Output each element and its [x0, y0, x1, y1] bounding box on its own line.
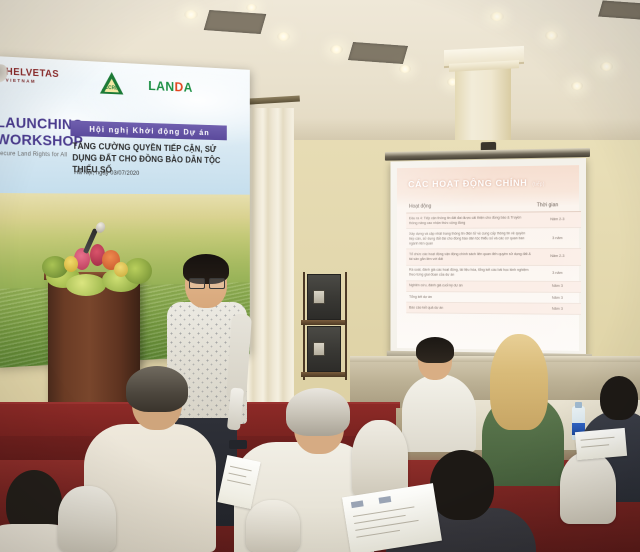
handout-line [581, 437, 615, 441]
conference-chair [352, 420, 408, 498]
projection-screen: CÁC HOẠT ĐỘNG CHÍNH(tiếp) Hoạt động Thời… [390, 158, 586, 358]
ceiling-downlight [246, 4, 257, 11]
banner-title-line2: WORKSHOP [0, 131, 78, 150]
slide-cell-activity: Đầu ra 4: Tiếp cận thông tin đất đai đượ… [406, 212, 534, 229]
slide-title-suffix: (tiếp) [532, 182, 544, 188]
slide-cell-activity: Báo cáo kết quả dự án [406, 302, 534, 314]
handout-line [230, 466, 252, 472]
slide-table-row: Đầu ra 4: Tiếp cận thông tin đất đai đượ… [406, 212, 581, 229]
audience-hair-grey [126, 366, 188, 412]
audience-hair-white [286, 388, 350, 436]
projector-screen-assembly: CÁC HOẠT ĐỘNG CHÍNH(tiếp) Hoạt động Thời… [390, 158, 586, 363]
conference-photo-scene: HELVETAS VIETNAM CCRD LANDA LAUNCHING WO… [0, 0, 640, 552]
landa-text-c: A [184, 79, 193, 94]
ccrd-logo: CCRD [100, 71, 123, 95]
slide-table-row: Xây dựng và cập nhật trang thông tin điệ… [406, 228, 581, 250]
presentation-slide: CÁC HOẠT ĐỘNG CHÍNH(tiếp) Hoạt động Thời… [397, 165, 579, 351]
audience-head [430, 450, 494, 520]
slide-cell-activity: Xây dựng và cập nhật trang thông tin điệ… [406, 228, 534, 249]
slide-title-text: CÁC HOẠT ĐỘNG CHÍNH [408, 178, 527, 190]
slide-activity-table: Hoạt động Thời gian Đầu ra 4: Tiếp cận t… [406, 199, 581, 315]
water-bottle-cap [575, 402, 582, 408]
handout-logo-block [351, 500, 364, 508]
slide-cell-time: Năm 2-3 [534, 249, 581, 265]
ceiling-downlight [600, 62, 613, 71]
presentation-clicker [229, 440, 247, 449]
flower-yellow [64, 256, 78, 272]
handout-line [356, 530, 400, 538]
ac-vent [204, 10, 267, 34]
slide-cell-activity: Rà soát, đánh giá các hoạt động, tài liệ… [406, 265, 534, 281]
audience-hair-blonde [490, 334, 548, 430]
slide-table-row: Rà soát, đánh giá các hoạt động, tài liệ… [406, 265, 581, 281]
slide-cell-activity: Nghiên cứu, đánh giá cuối kỳ dự án [406, 281, 534, 293]
slide-table-row: Báo cáo kết quả dự án Năm 3 [406, 302, 581, 315]
slide-table-row: Tổ chức các hoạt động vận động chính sác… [406, 249, 581, 265]
speaker-driver-icon [313, 342, 325, 356]
speaker-shelf [301, 372, 345, 377]
ceiling-downlight [330, 45, 343, 54]
conference-chair [560, 452, 616, 524]
slide-col-time: Thời gian [534, 199, 581, 212]
handout-line [229, 473, 247, 478]
audience-hair [416, 337, 454, 363]
ceiling-downlight [184, 10, 198, 19]
handout-line [227, 480, 251, 486]
flower-arrangement [44, 240, 154, 296]
foliage [124, 258, 152, 284]
speaker-shelf [301, 320, 345, 325]
presenter-glasses-icon [189, 278, 225, 287]
foliage [66, 274, 106, 296]
ccrd-logo-text: CCRD [103, 85, 121, 92]
conference-chair [58, 486, 116, 552]
slide-cell-time: Năm 3 [534, 303, 581, 315]
slide-title: CÁC HOẠT ĐỘNG CHÍNH(tiếp) [408, 178, 545, 191]
slide-cell-time: Năm 2-3 [534, 212, 581, 228]
slide-cell-time: Năm 3 [534, 292, 581, 303]
audience-head [600, 376, 638, 420]
loudspeaker-stack [303, 272, 343, 380]
slide-cell-time: 3 năm [534, 228, 581, 249]
slide-col-activity: Hoạt động [406, 200, 534, 213]
banner-left-title-block: LAUNCHING WORKSHOP Secure Land Rights fo… [0, 114, 78, 159]
banner-title-line1: LAUNCHING [0, 114, 78, 133]
helvetas-logo: HELVETAS VIETNAM [6, 67, 59, 85]
ceiling-downlight [490, 12, 504, 21]
handout-document [575, 428, 627, 460]
audience-shoulders [402, 374, 476, 452]
ac-vent [598, 0, 640, 19]
slide-cell-activity: Tổ chức các hoạt động vận động chính sác… [406, 249, 534, 265]
landa-text-d: D [175, 79, 184, 94]
handout-line [581, 444, 609, 447]
ceiling-downlight [399, 65, 411, 73]
ac-vent [348, 42, 408, 64]
ceiling-downlight [277, 32, 290, 41]
speaker-driver-icon [313, 290, 325, 304]
slide-cell-time: 3 năm [534, 265, 581, 281]
ceiling-downlight [571, 82, 583, 90]
ceiling-downlight [545, 31, 558, 40]
banner-strip-label: Hội nghị Khởi động Dự án [89, 124, 210, 137]
conference-chair [246, 500, 300, 552]
slide-cell-time: Năm 3 [534, 281, 581, 292]
landa-text-a: LAN [148, 78, 174, 94]
banner-date: Hà Nội, ngày 03/07/2020 [74, 169, 139, 177]
flower-yellow [114, 262, 128, 277]
handout-logo-block [379, 496, 392, 504]
landa-logo: LANDA [148, 78, 193, 95]
